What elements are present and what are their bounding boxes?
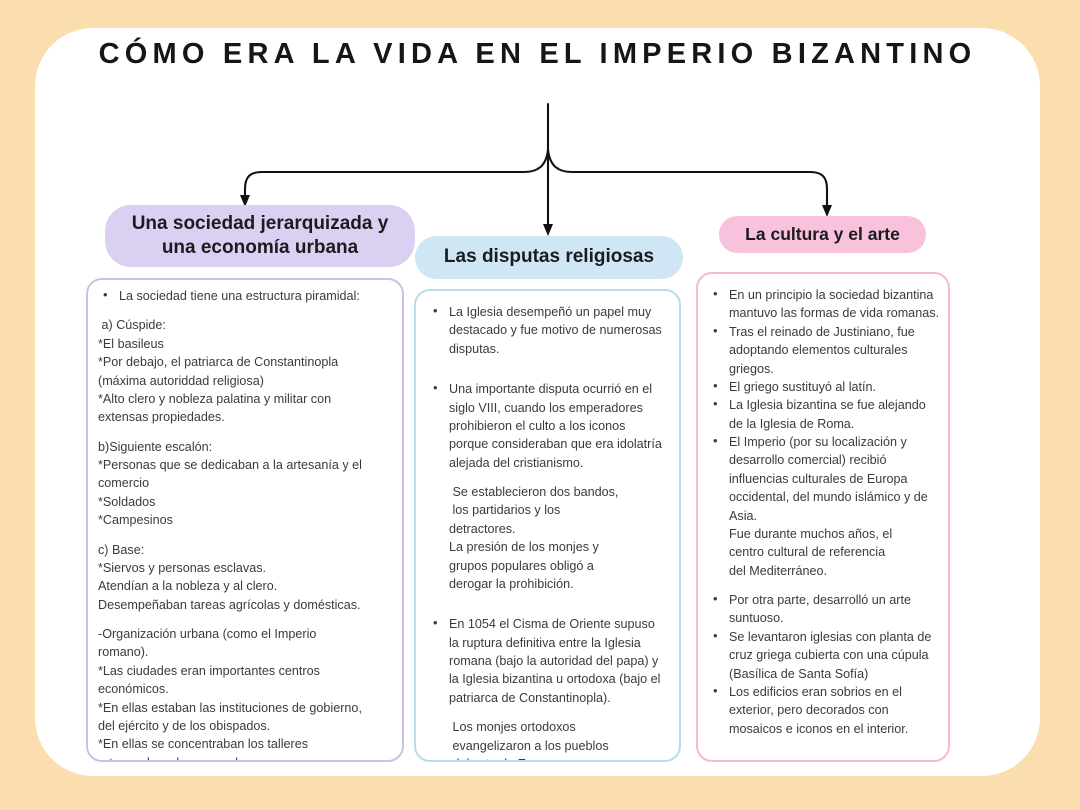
spacer — [98, 427, 390, 438]
bullet-list: En un principio la sociedad bizantina ma… — [708, 286, 940, 580]
list-item: Una importante disputa ocurrió en el sig… — [428, 380, 667, 472]
spacer — [708, 580, 940, 591]
list-item: Se establecieron dos bandos, los partida… — [428, 483, 667, 593]
branch-panel-cultura: En un principio la sociedad bizantina ma… — [696, 272, 950, 762]
spacer — [428, 369, 667, 380]
bullet-list: Por otra parte, desarrolló un arte suntu… — [708, 591, 940, 738]
list-item: Por otra parte, desarrolló un arte suntu… — [708, 591, 940, 628]
list-item: Se levantaron iglesias con planta de cru… — [708, 628, 940, 683]
list-item: El Imperio (por su localización y desarr… — [708, 433, 940, 525]
list-item: Tras el reinado de Justiniano, fue adopt… — [708, 323, 940, 378]
branch-header-cultura-label: La cultura y el arte — [745, 223, 900, 245]
bullet-list: Una importante disputa ocurrió en el sig… — [428, 380, 667, 593]
branch-header-disputas[interactable]: Las disputas religiosas — [415, 236, 683, 279]
list-item: Los edificios eran sobrios en el exterio… — [708, 683, 940, 738]
spacer — [98, 614, 390, 625]
branch-panel-disputas: La Iglesia desempeñó un papel muy destac… — [414, 289, 681, 762]
bullet-list: En 1054 el Cisma de Oriente supuso la ru… — [428, 615, 667, 762]
text-block: b)Siguiente escalón: *Personas que se de… — [98, 438, 390, 530]
panel-sociedad-content: La sociedad tiene una estructura piramid… — [98, 287, 390, 762]
list-item: El griego sustituyó al latín. — [708, 378, 940, 396]
spacer — [428, 604, 667, 615]
branch-panel-sociedad: La sociedad tiene una estructura piramid… — [86, 278, 404, 762]
panel-cultura-content: En un principio la sociedad bizantina ma… — [708, 286, 940, 738]
bullet-list: La Iglesia desempeñó un papel muy destac… — [428, 303, 667, 358]
list-item: La Iglesia bizantina se fue alejando de … — [708, 396, 940, 433]
spacer — [98, 530, 390, 541]
list-item: En un principio la sociedad bizantina ma… — [708, 286, 940, 323]
branch-header-sociedad[interactable]: Una sociedad jerarquizada y una economía… — [105, 205, 415, 267]
text-block: -Organización urbana (como el Imperio ro… — [98, 625, 390, 762]
list-item: La sociedad tiene una estructura piramid… — [98, 287, 390, 305]
list-item: La Iglesia desempeñó un papel muy destac… — [428, 303, 667, 358]
text-block: c) Base: *Siervos y personas esclavas. A… — [98, 541, 390, 615]
list-item: En 1054 el Cisma de Oriente supuso la ru… — [428, 615, 667, 707]
text-block: a) Cúspide: *El basileus *Por debajo, el… — [98, 316, 390, 426]
branch-header-disputas-label: Las disputas religiosas — [444, 245, 654, 269]
list-item: Los monjes ortodoxos evangelizaron a los… — [428, 718, 667, 762]
mindmap-canvas: CÓMO ERA LA VIDA EN EL IMPERIO BIZANTINO… — [0, 0, 1080, 810]
bullet-list: La sociedad tiene una estructura piramid… — [98, 287, 390, 305]
branch-header-sociedad-label: Una sociedad jerarquizada y una economía… — [119, 212, 401, 261]
list-item: Fue durante muchos años, el centro cultu… — [708, 525, 940, 580]
page-title: CÓMO ERA LA VIDA EN EL IMPERIO BIZANTINO — [35, 38, 1040, 71]
branch-header-cultura[interactable]: La cultura y el arte — [719, 216, 926, 253]
panel-disputas-content: La Iglesia desempeñó un papel muy destac… — [428, 303, 667, 762]
